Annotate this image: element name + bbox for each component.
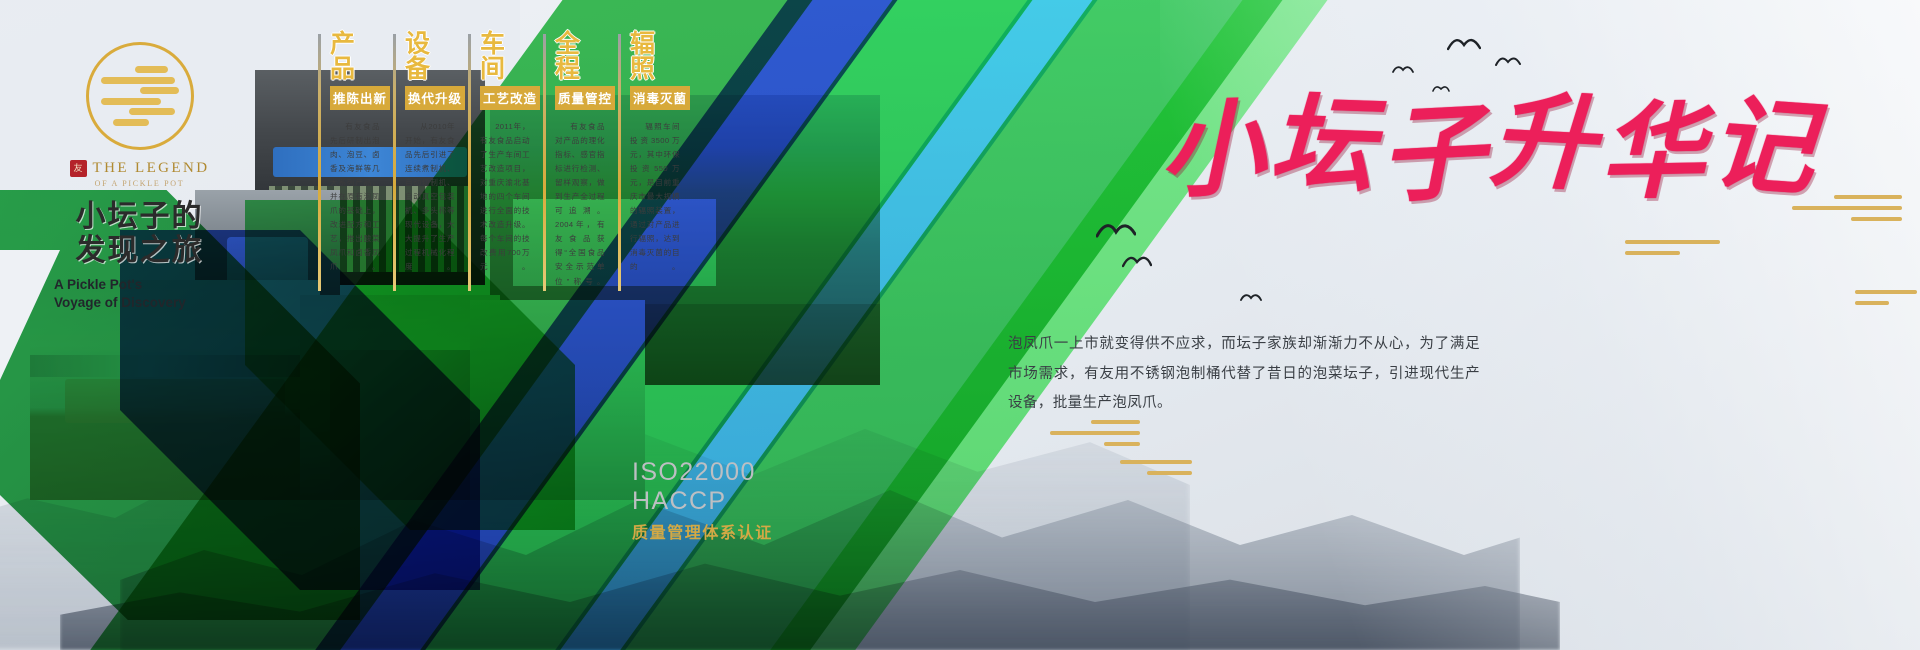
- card-heading: 产品: [330, 32, 380, 82]
- card-rule: [468, 34, 471, 291]
- brand-title-cn-line2: 发现之旅: [32, 234, 247, 268]
- card-body: 辐照车间投资3500万元，其中环保投资550万元，是目前重庆市最大规模的辐照装置…: [630, 120, 680, 275]
- brand-title-en-line2: Voyage of Discovery: [54, 294, 247, 312]
- info-card-product: 产品 推陈出新 有友食品先后研制出泡肉、泡豆、卤香及海鲜等几大系列产品，并在原有…: [318, 32, 380, 289]
- card-heading: 全程: [555, 32, 605, 82]
- headline-char-1: 小: [1158, 98, 1266, 206]
- info-card-workshop: 车间 工艺改造 2011年，有友食品启动了生产车间工艺改造项目，对重庆渝北基地的…: [468, 32, 530, 289]
- brand-title-en-line1: A Pickle Pot's: [54, 276, 247, 294]
- card-body: 从2010年开始，有友食品先后引进了连续煮制机、自动切制机、自动真空包装机、多头…: [405, 120, 455, 275]
- info-card-irradiation: 辐照 消毒灭菌 辐照车间投资3500万元，其中环保投资550万元，是目前重庆市最…: [618, 32, 680, 289]
- brand-lockup: 友 THE LEGEND OF A PICKLE POT 小坛子的 发现之旅 A…: [32, 42, 247, 313]
- bird-icon: [1495, 55, 1521, 68]
- legend-en-text: THE LEGEND: [93, 160, 210, 177]
- info-card-list: 产品 推陈出新 有友食品先后研制出泡肉、泡豆、卤香及海鲜等几大系列产品，并在原有…: [318, 32, 693, 289]
- body-paragraph: 泡凤爪一上市就变得供不应求，而坛子家族却渐渐力不从心，为了满足市场需求，有友用不…: [1008, 330, 1480, 419]
- headline-char-6: 记: [1707, 93, 1818, 204]
- card-subheading: 消毒灭菌: [630, 86, 690, 110]
- red-seal-icon: 友: [70, 160, 87, 177]
- bird-icon: [1240, 292, 1262, 303]
- card-body: 有友食品对产品的理化指标、感官指标进行检测、留样观察，做到生产全过程可追溯。20…: [555, 120, 605, 289]
- bird-icon: [1096, 221, 1136, 240]
- certification-haccp-line: HACCP: [632, 487, 773, 516]
- card-subheading: 质量管控: [555, 86, 615, 110]
- photo-corridor-interior: [470, 300, 645, 500]
- bird-icon: [1392, 64, 1414, 75]
- legend-row: 友 THE LEGEND: [32, 160, 247, 177]
- cloud-ornament-icon: [1855, 290, 1917, 312]
- cloud-ornament-icon: [1120, 460, 1192, 482]
- photo-clean-room-production-line: [30, 280, 320, 500]
- pickle-pot-seal-circle-icon: [86, 42, 194, 150]
- card-heading: 设备: [405, 32, 455, 82]
- bird-icon: [1122, 254, 1152, 269]
- cloud-ornament-icon: [1050, 420, 1140, 453]
- card-heading: 辐照: [630, 32, 680, 82]
- bird-icon: [1447, 36, 1481, 52]
- card-rule: [543, 34, 546, 291]
- certification-iso-line: ISO22000: [632, 458, 773, 487]
- headline-char-3: 子: [1378, 101, 1487, 210]
- headline-char-4: 升: [1488, 89, 1597, 198]
- info-card-equipment: 设备 换代升级 从2010年开始，有友食品先后引进了连续煮制机、自动切制机、自动…: [393, 32, 455, 289]
- poster-canvas: 友 THE LEGEND OF A PICKLE POT 小坛子的 发现之旅 A…: [0, 0, 1920, 650]
- card-body: 2011年，有友食品启动了生产车间工艺改造项目，对重庆渝北基地的四个车间进行全面…: [480, 120, 530, 275]
- brand-title-cn-line1: 小坛子的: [32, 200, 247, 234]
- card-heading: 车间: [480, 32, 530, 82]
- bird-icon: [1432, 84, 1450, 93]
- certification-block: ISO22000 HACCP 质量管理体系认证: [632, 458, 773, 543]
- card-rule: [318, 34, 321, 291]
- card-rule: [393, 34, 396, 291]
- headline-char-2: 坛: [1268, 92, 1376, 200]
- brand-title-en: A Pickle Pot's Voyage of Discovery: [32, 276, 247, 312]
- cloud-ornament-icon: [1625, 240, 1720, 262]
- info-card-quality: 全程 质量管控 有友食品对产品的理化指标、感官指标进行检测、留样观察，做到生产全…: [543, 32, 605, 289]
- card-subheading: 推陈出新: [330, 86, 390, 110]
- card-body: 有友食品先后研制出泡肉、泡豆、卤香及海鲜等几大系列产品，并在原有泡凤爪的基础上，…: [330, 120, 380, 275]
- card-subheading: 换代升级: [405, 86, 465, 110]
- mountain-near-layer: [60, 490, 1560, 650]
- headline-char-5: 华: [1599, 101, 1705, 207]
- certification-cn-line: 质量管理体系认证: [632, 519, 773, 543]
- legend-sub-text: OF A PICKLE POT: [32, 179, 247, 188]
- seal-bars: [101, 63, 179, 130]
- brand-title-cn: 小坛子的 发现之旅: [32, 200, 247, 267]
- card-rule: [618, 34, 621, 291]
- main-headline: 小 坛 子 升 华 记: [1160, 100, 1814, 204]
- card-subheading: 工艺改造: [480, 86, 540, 110]
